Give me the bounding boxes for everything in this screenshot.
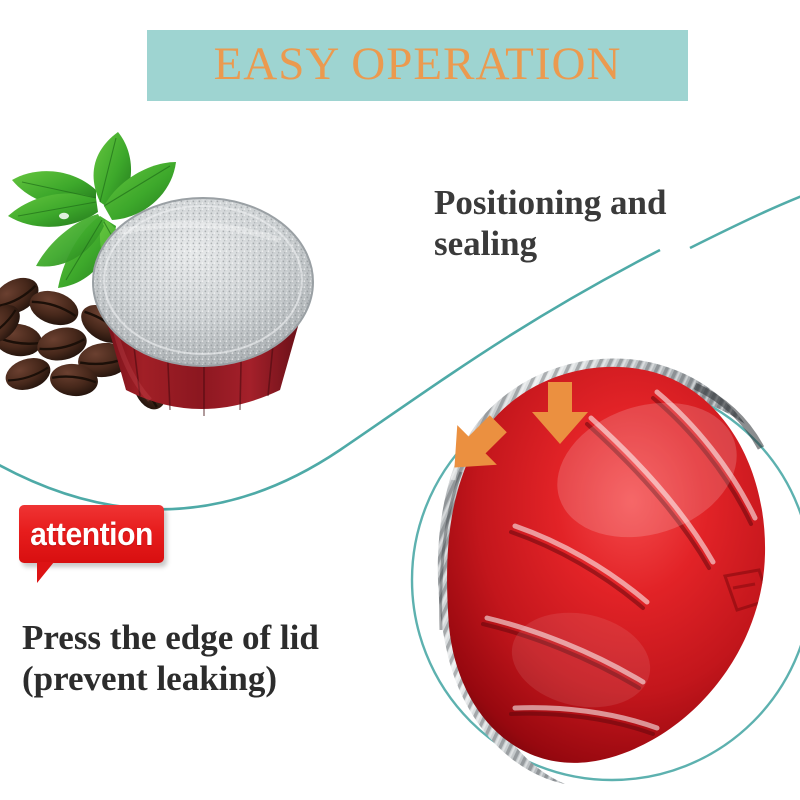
attention-badge-label: attention	[23, 505, 159, 563]
arrow-down-rim-icon	[532, 382, 588, 444]
step-1-heading-line-2: sealing	[434, 223, 764, 264]
step-1-heading: Positioning and sealing	[434, 182, 764, 265]
arrow-diagonal-rim-icon	[435, 404, 518, 487]
step-2-heading: Press the edge of lid (prevent leaking)	[22, 617, 442, 700]
step-2-heading-line-1: Press the edge of lid	[22, 618, 319, 657]
attention-badge: attention	[19, 505, 164, 579]
page-title: EASY OPERATION	[147, 28, 688, 99]
step-1-heading-line-1: Positioning and	[434, 183, 666, 222]
step-2-heading-line-2: (prevent leaking)	[22, 658, 442, 699]
infographic-page: EASY OPERATION Positioning and sealing a…	[0, 0, 800, 800]
